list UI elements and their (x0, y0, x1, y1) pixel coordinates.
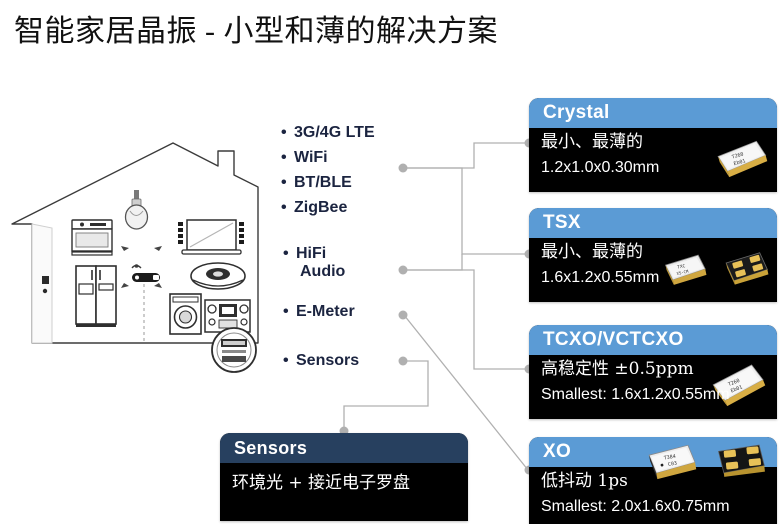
card-title-tcxo: TCXO/VCTCXO (529, 325, 777, 355)
card-line2-tsx: 1.6x1.2x0.55mm (541, 265, 777, 290)
feature-label: BT/BLE (294, 174, 352, 191)
card-line1-crystal: 最小、最薄的 (541, 130, 777, 155)
stereo-system-icon (205, 300, 250, 332)
card-line1-xo: 低抖动 1ps (541, 469, 777, 494)
bullet-dot: • (283, 245, 296, 263)
card-title-tsx: TSX (529, 208, 777, 238)
feature-item-sensors: •Sensors (283, 352, 359, 370)
page-title: 智能家居晶振 - 小型和薄的解决方案 (14, 14, 714, 50)
bullet-dot: • (283, 352, 296, 370)
connector-dot-wifi (399, 164, 408, 173)
connector-dot-sensors (399, 357, 408, 366)
product-card-tcxo[interactable]: TCXO/VCTCXO 高稳定性 ±0.5ppm Smallest: 1.6x1… (529, 325, 777, 419)
feature-label-second-line: Audio (300, 263, 345, 281)
oven-icon (72, 220, 112, 255)
card-title-crystal: Crystal (529, 98, 777, 128)
connector-audio-to-tsx (404, 254, 462, 270)
card-body-tsx: 最小、最薄的 1.6x1.2x0.55mm TXC XS-CM (529, 238, 777, 302)
feature-item-zigbee: •ZigBee (281, 199, 347, 217)
connector-audio-to-tcxo (404, 270, 528, 369)
connector-dot-audio (399, 266, 408, 275)
card-line2-xo: Smallest: 2.0x1.6x0.75mm (541, 494, 777, 519)
connector-wifi-to-tsx (404, 168, 528, 254)
bullet-dot: • (281, 174, 294, 192)
card-body-tcxo: 高稳定性 ±0.5ppm Smallest: 1.6x1.2x0.55mm T2… (529, 355, 777, 419)
feature-item-lte: •3G/4G LTE (281, 124, 375, 142)
washing-machine-icon (170, 294, 201, 334)
feature-item-emeter: •E-Meter (283, 303, 355, 321)
card-body-sensors: 环境光 + 接近电子罗盘 (220, 463, 468, 521)
connector-dot-emeter (399, 311, 408, 320)
feature-item-wifi: •WiFi (281, 149, 328, 167)
card-title-sensors: Sensors (220, 433, 468, 463)
feature-label: ZigBee (294, 199, 347, 216)
product-card-sensors[interactable]: Sensors 环境光 + 接近电子罗盘 (220, 433, 468, 521)
smart-home-illustration (6, 128, 274, 378)
refrigerator-icon (76, 266, 116, 327)
card-line1-tcxo: 高稳定性 ±0.5ppm (541, 357, 777, 382)
bullet-dot: • (281, 124, 294, 142)
product-card-xo[interactable]: XO 低抖动 1ps Smallest: 2.0x1.6x0.75mm T384… (529, 437, 777, 524)
slide-canvas: 智能家居晶振 - 小型和薄的解决方案 (0, 0, 784, 524)
product-card-crystal[interactable]: Crystal 最小、最薄的 1.2x1.0x0.30mm T260 Eb01 (529, 98, 777, 192)
card-line1-sensors: 环境光 + 接近电子罗盘 (232, 471, 468, 496)
feature-label: 3G/4G LTE (294, 124, 375, 141)
electric-meter-icon (212, 328, 256, 372)
feature-label: Sensors (296, 352, 359, 369)
feature-item-btble: •BT/BLE (281, 174, 352, 192)
feature-label: E-Meter (296, 303, 355, 320)
door-knob (43, 289, 47, 293)
card-line2-tcxo: Smallest: 1.6x1.2x0.55mm (541, 382, 777, 407)
bullet-dot: • (281, 199, 294, 217)
feature-label: WiFi (294, 149, 328, 166)
card-body-crystal: 最小、最薄的 1.2x1.0x0.30mm T260 Eb01 (529, 128, 777, 192)
card-line1-tsx: 最小、最薄的 (541, 240, 777, 265)
connector-wifi-to-crystal (404, 143, 528, 168)
feature-label: HiFi (296, 245, 326, 262)
robot-vacuum-icon (191, 263, 245, 289)
bullet-dot: • (281, 149, 294, 167)
card-body-xo: 低抖动 1ps Smallest: 2.0x1.6x0.75mm T384 C0… (529, 467, 777, 524)
bullet-dot: • (283, 303, 296, 321)
laptop-icon (178, 220, 244, 254)
door-panel-switch (42, 276, 49, 284)
card-line2-crystal: 1.2x1.0x0.30mm (541, 155, 777, 180)
connector-sensors-to-box (344, 361, 428, 432)
feature-item-hifi-audio: •HiFi Audio (283, 245, 345, 281)
product-card-tsx[interactable]: TSX 最小、最薄的 1.6x1.2x0.55mm TXC XS-CM (529, 208, 777, 302)
